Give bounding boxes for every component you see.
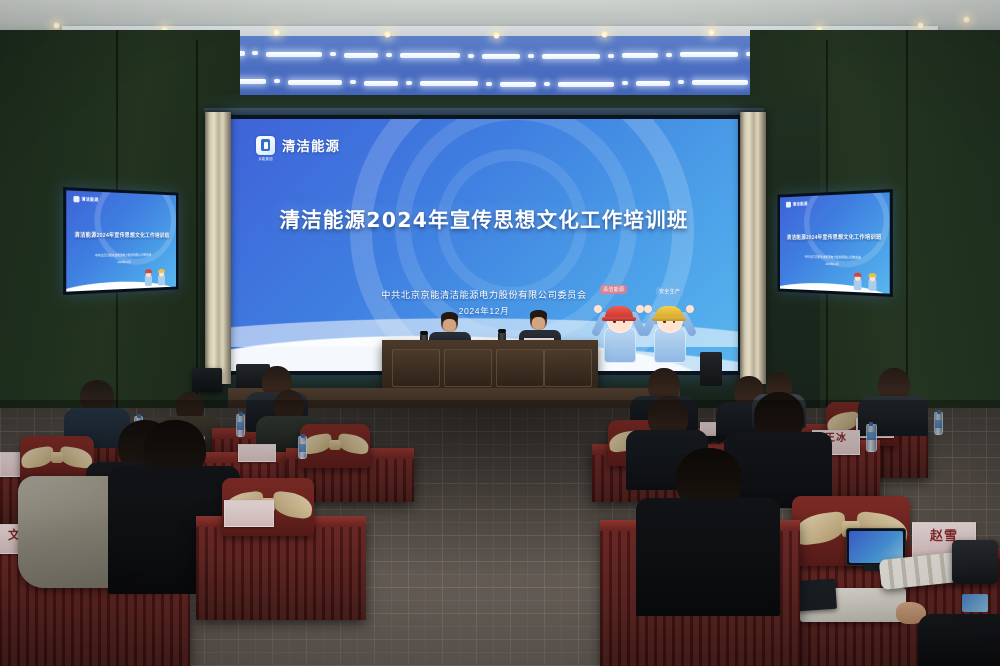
presentation-slide: 京能集团 清洁能源 清洁能源2024年宣传思想文化工作培训班 中共北京京能清洁能…	[230, 119, 738, 371]
mascot-bubble-left: 清洁能源	[600, 285, 627, 294]
side-slide-right: 清洁能源 清洁能源2024年宣传思想文化工作培训班 中共北京京能清洁能源电力股份…	[780, 192, 890, 293]
downlight-icon	[600, 31, 609, 38]
chair	[300, 424, 370, 468]
curtain-rod	[204, 108, 764, 114]
side-slide-date: 2024年12月	[780, 261, 890, 267]
chair-bow	[300, 435, 370, 453]
side-display-left: 清洁能源 清洁能源2024年宣传思想文化工作培训班 中共北京京能清洁能源电力股份…	[63, 187, 178, 295]
camera-body	[952, 540, 998, 584]
name-card	[238, 444, 276, 462]
brand-wordmark: 清洁能源	[82, 196, 99, 203]
downlight-icon	[383, 31, 392, 38]
side-mascots	[852, 267, 882, 291]
camera-lcd-screen	[962, 594, 988, 612]
downlight-icon	[492, 32, 501, 39]
brand-wordmark: 清洁能源	[282, 135, 340, 155]
downlight-icon	[52, 22, 61, 29]
name-card	[224, 500, 274, 527]
laptop[interactable]	[795, 579, 837, 612]
side-slide-left: 清洁能源 清洁能源2024年宣传思想文化工作培训班 中共北京京能清洁能源电力股份…	[66, 190, 176, 291]
brand-submark-text: 京能集团	[256, 156, 275, 161]
downlight-icon	[916, 22, 925, 29]
main-led-screen: 京能集团 清洁能源 清洁能源2024年宣传思想文化工作培训班 中共北京京能清洁能…	[226, 115, 742, 375]
side-mascots	[143, 264, 169, 286]
stage-curtain-left	[205, 112, 231, 384]
slide-logo: 京能集团 清洁能源	[256, 135, 340, 155]
photographer	[918, 614, 1000, 666]
water-bottle	[298, 436, 307, 459]
conference-hall-photo: 清洁能源 清洁能源2024年宣传思想文化工作培训班 中共北京京能清洁能源电力股份…	[0, 0, 1000, 666]
mascot-worker-red-helmet	[596, 301, 642, 363]
stage-curtain-right	[740, 112, 766, 384]
water-bottle	[934, 412, 943, 435]
side-slide-title: 清洁能源2024年宣传思想文化工作培训班	[66, 230, 176, 239]
mascot-worker-yellow-helmet	[646, 301, 692, 363]
downlight-icon	[272, 29, 281, 36]
stage-monitor-left	[192, 368, 222, 392]
water-bottle	[866, 424, 877, 452]
slide-title: 清洁能源2024年宣传思想文化工作培训班	[230, 203, 738, 233]
side-logo-right: 清洁能源	[786, 201, 808, 208]
brand-mark-icon: 京能集团	[256, 136, 275, 155]
brand-mark-icon	[786, 202, 791, 208]
chair-bow	[20, 448, 94, 467]
audience-member-foreground	[636, 448, 782, 608]
downlight-icon	[962, 16, 971, 23]
slide-mascot-group: 清洁能源 安全生产	[594, 285, 710, 363]
side-display-right: 清洁能源 清洁能源2024年宣传思想文化工作培训班 中共北京京能清洁能源电力股份…	[778, 189, 893, 297]
brand-wordmark: 清洁能源	[793, 201, 808, 207]
mascot-bubble-right: 安全生产	[656, 287, 683, 296]
audience-member	[856, 368, 930, 428]
side-slide-title: 清洁能源2024年宣传思想文化工作培训班	[780, 232, 890, 241]
brand-mark-icon	[73, 196, 79, 203]
downlight-icon	[707, 29, 716, 36]
side-logo-left: 清洁能源	[73, 196, 98, 203]
